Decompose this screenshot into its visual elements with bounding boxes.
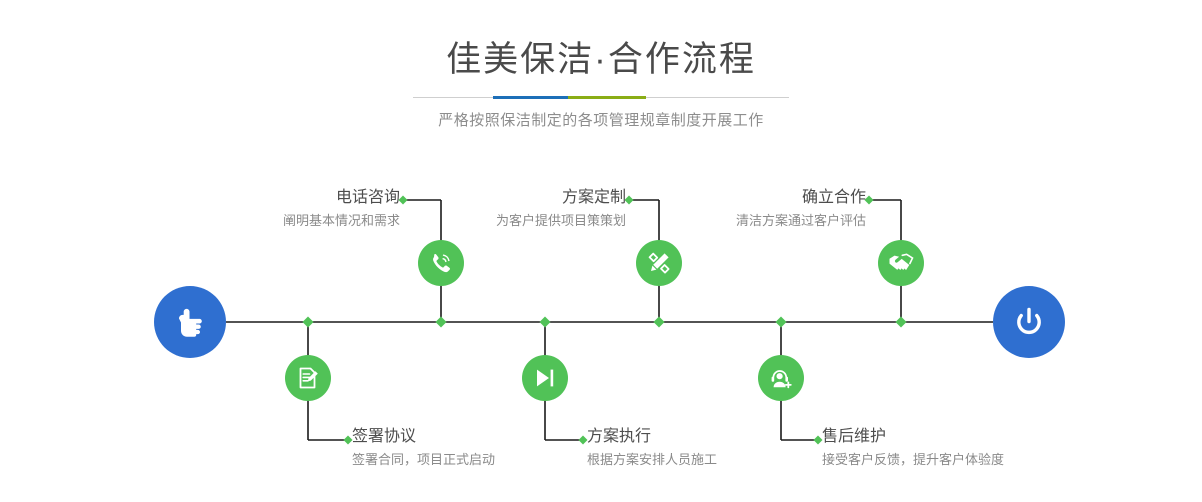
pointing-hand-icon — [170, 302, 210, 342]
step-title-5: 确立合作 — [640, 188, 866, 208]
pencil-ruler-icon — [646, 250, 672, 276]
step-desc-4: 根据方案安排人员施工 — [587, 447, 817, 469]
step-title-1: 电话咨询 — [185, 188, 400, 208]
customer-support-add-icon — [768, 365, 794, 391]
step-label-2: 签署协议 签署合同，项目正式启动 — [352, 427, 582, 469]
play-execute-icon — [532, 365, 558, 391]
step-desc-1: 阐明基本情况和需求 — [185, 208, 400, 230]
step-label-4: 方案执行 根据方案安排人员施工 — [587, 427, 817, 469]
step-desc-3: 为客户提供项目策策划 — [400, 208, 626, 230]
step-label-3: 方案定制 为客户提供项目策策划 — [400, 188, 626, 230]
step-desc-5: 清洁方案通过客户评估 — [640, 208, 866, 230]
step-desc-2: 签署合同，项目正式启动 — [352, 447, 582, 469]
step-icon-1[interactable] — [418, 240, 464, 286]
step-icon-6[interactable] — [758, 355, 804, 401]
flow-start-node[interactable] — [154, 286, 226, 358]
step-desc-6: 接受客户反馈，提升客户体验度 — [822, 447, 1072, 469]
step-icon-5[interactable] — [878, 240, 924, 286]
step-title-2: 签署协议 — [352, 427, 582, 447]
handshake-icon — [887, 249, 915, 277]
step-label-6: 售后维护 接受客户反馈，提升客户体验度 — [822, 427, 1072, 469]
flow-end-node[interactable] — [993, 286, 1065, 358]
process-flow-page: 佳美保洁·合作流程 严格按照保洁制定的各项管理规章制度开展工作 — [0, 0, 1202, 502]
document-edit-icon — [295, 365, 321, 391]
step-title-3: 方案定制 — [400, 188, 626, 208]
step-icon-2[interactable] — [285, 355, 331, 401]
power-button-icon — [1009, 302, 1049, 342]
step-label-5: 确立合作 清洁方案通过客户评估 — [640, 188, 866, 230]
step-icon-4[interactable] — [522, 355, 568, 401]
step-title-4: 方案执行 — [587, 427, 817, 447]
step-label-1: 电话咨询 阐明基本情况和需求 — [185, 188, 400, 230]
step-icon-3[interactable] — [636, 240, 682, 286]
phone-call-icon — [428, 250, 454, 276]
step-title-6: 售后维护 — [822, 427, 1072, 447]
